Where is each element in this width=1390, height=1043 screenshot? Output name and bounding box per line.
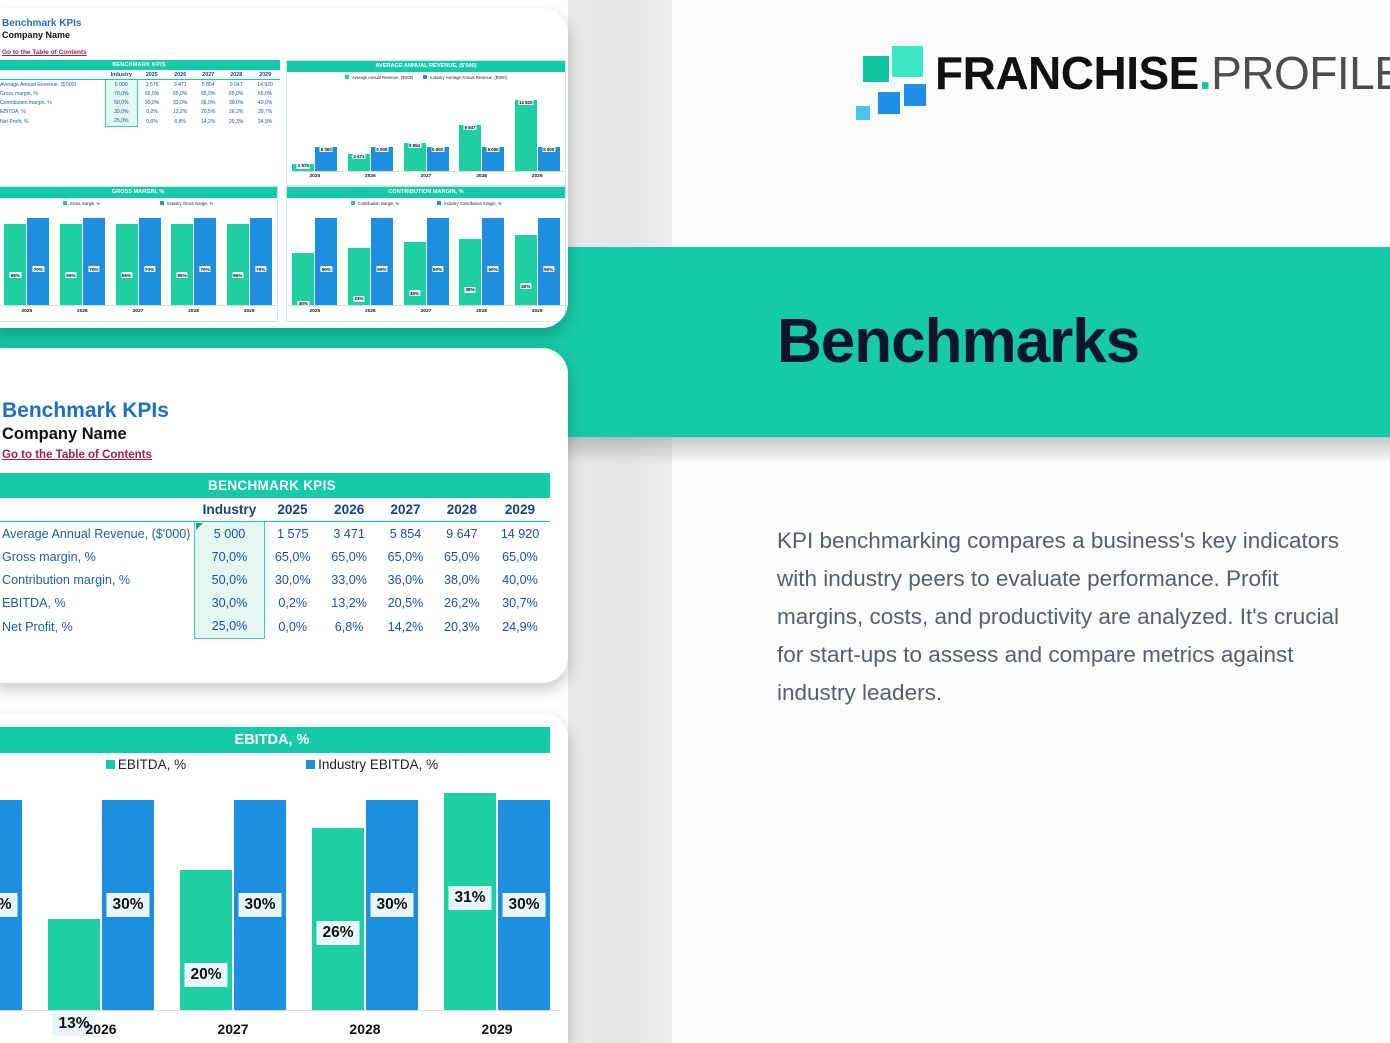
cell-2026: 33,0% [321,568,377,591]
legend-label: Gross margin, % [70,201,100,206]
cell-2028: 26,2% [222,108,250,117]
bar: 5 000 [538,147,560,171]
kpi-table-small: BENCHMARK KPIS Industry 2025 2026 2027 2… [0,60,280,127]
page-title: Benchmarks [777,307,1139,377]
cell-2028: 26,2% [434,592,490,615]
cell-2029: 24,9% [250,117,280,127]
cell-industry: 25,0% [195,615,264,639]
cell-2029: 40,0% [490,568,550,591]
bar-data-label: 70% [144,266,155,272]
bar: 36% [404,242,426,305]
col-industry: Industry [105,70,137,80]
ebitda-chart-card[interactable]: EBITDA, % EBITDA, % Industry EBITDA, % 3… [0,713,568,1043]
bar-group: 65%70% [60,208,105,305]
col-2029: 2029 [490,498,550,522]
logo-square-blue-right-icon [902,82,928,108]
sheet-header-small: Benchmark KPIs Company Name Go to the Ta… [2,18,87,59]
bar: 5 854 [404,143,426,171]
legend-swatch-icon [106,760,115,769]
x-axis-label: 2026 [343,309,399,314]
bar-data-label: 5 000 [542,146,555,152]
bar: 30% [292,253,314,305]
cell-2025: 30,0% [264,568,321,591]
x-axis-label: 2028 [166,309,222,314]
bar-data-label: 14 920 [518,99,533,105]
legend-swatch-icon [423,75,427,79]
chart-gross-margin[interactable]: GROSS MARGIN, %Gross margin, %Industry G… [0,186,278,322]
bar-group: 31%30% [444,785,550,1010]
table-row: EBITDA, % 30,0% 0,2% 13,2% 20,5% 26,2% 3… [0,108,280,117]
bar-data-label: 38% [464,287,475,293]
row-label: EBITDA, % [0,108,105,117]
cell-2029: 14 920 [250,80,280,90]
bar-data-label: 3 471 [352,153,365,159]
cell-2025: 65,0% [264,545,321,568]
bar: 50% [427,218,449,305]
bar: 5 000 [482,147,504,171]
row-label: Net Profit, % [0,117,105,127]
legend-swatch-icon [437,201,441,205]
bar-group: 65%70% [4,208,49,305]
cell-industry: 5 000 [105,80,137,90]
col-2028: 2028 [222,70,250,80]
legend-item: Contribution margin, % [351,201,400,206]
cell-industry: 5 000 [195,522,264,546]
table-row: Average Annual Revenue, ($'000) 5 000 1 … [0,80,280,90]
row-label: Average Annual Revenue, ($'000) [0,522,195,546]
cell-2027: 36,0% [377,568,433,591]
bar: 70% [139,218,161,305]
legend-item-ebitda: EBITDA, % [106,757,186,772]
bar: 50% [371,218,393,305]
bar-data-label: 65% [65,272,76,278]
bar: 20% [180,870,232,1010]
x-axis-label: 2025 [0,1021,22,1037]
bar-data-label: 5 000 [375,146,388,152]
cell-2029: 14 920 [490,522,550,546]
bar: 65% [116,224,138,305]
kpi-table-banner: BENCHMARK KPIS [0,60,280,70]
table-row: Average Annual Revenue, ($'000) 5 000 1 … [0,522,550,546]
bar-data-label: 1 575 [297,163,310,169]
bar-data-label: 70% [88,266,99,272]
x-axis-label: 2029 [509,174,565,179]
bar: 14 920 [515,100,537,171]
bar: 65% [227,224,249,305]
bar-data-label: 31% [448,886,491,910]
legend-label: Average Annual Revenue, ($'000) [352,75,413,80]
bar-group: 30%50% [292,208,337,305]
col-2025: 2025 [264,498,321,522]
legend-label: Contribution margin, % [358,201,400,206]
kpi-table-header-row: Industry 2025 2026 2027 2028 2029 [0,70,280,80]
x-axis-label: 2027 [398,174,454,179]
bar-data-label: 9 647 [464,124,477,130]
cell-2026: 65,0% [321,545,377,568]
legend-label: EBITDA, % [118,757,186,772]
cell-2027: 14,2% [377,615,433,639]
bar-group: 20%30% [180,785,286,1010]
bar: 65% [171,224,193,305]
bar: 30% [0,800,22,1010]
x-axis-label: 2029 [221,309,277,314]
table-row: Net Profit, % 25,0% 0,0% 6,8% 14,2% 20,3… [0,117,280,127]
bar-group: 3 4715 000 [348,82,393,171]
cell-2026: 3 471 [166,80,194,90]
bar-group: 26%30% [312,785,418,1010]
bar: 70% [83,218,105,305]
bar: 1 575 [292,164,314,171]
logo-squares-icon [851,44,917,102]
plot-area: 1 5755 00020253 4715 00020265 8545 00020… [287,82,565,171]
col-2025: 2025 [137,70,166,80]
bar: 26% [312,828,364,1010]
legend-item: Industry Gross margin, % [160,201,213,206]
logo-square-cyan-icon [854,104,872,122]
cell-industry: 30,0% [105,108,137,117]
bar-data-label: 5 000 [431,146,444,152]
cell-2028: 9 647 [222,80,250,90]
row-label: Gross margin, % [0,545,195,568]
table-row: Gross margin, % 70,0% 65,0% 65,0% 65,0% … [0,89,280,98]
legend-label: Industry Average Annual Revenue, ($'000) [430,75,507,80]
sheet-title: Benchmark KPIs [2,18,87,30]
cell-2026: 6,8% [321,615,377,639]
cell-2028: 9 647 [434,522,490,546]
cell-2026: 6,8% [166,117,194,127]
col-2027: 2027 [194,70,222,80]
bar: 50% [315,218,337,305]
bar-data-label: 30% [106,893,149,917]
col-2026: 2026 [166,70,194,80]
logo-word-franchise: FRANCHISE [935,47,1199,99]
x-axis-label: 2029 [444,1021,550,1037]
logo-square-blue-left-icon [876,90,902,116]
x-axis-line [287,171,565,172]
cell-2025: 0,2% [137,108,166,117]
bar-group: 33%50% [348,208,393,305]
logo-wordmark: FRANCHISE.PROFILES [935,50,1390,96]
x-axis-label: 2026 [55,309,111,314]
bar: 5 000 [315,147,337,171]
logo-word-profiles: PROFILES [1211,47,1390,99]
bar-group: 65%70% [227,208,272,305]
chart-title: GROSS MARGIN, % [0,187,277,198]
cell-2028: 20,3% [222,117,250,127]
cell-2029: 30,7% [250,108,280,117]
cell-2027: 36,0% [194,98,222,107]
bar: 38% [459,239,481,305]
bar: 70% [194,218,216,305]
bar-data-label: 5 000 [487,146,500,152]
chart-average-annual-revenue[interactable]: AVERAGE ANNUAL REVENUE, ($'000)Average A… [286,60,566,186]
bar-data-label: 65% [121,272,132,278]
cell-2026: 65,0% [166,89,194,98]
table-row: EBITDA, % 30,0% 0,2% 13,2% 20,5% 26,2% 3… [0,592,550,615]
cell-2028: 38,0% [222,98,250,107]
bar: 50% [538,218,560,305]
bar-data-label: 65% [10,272,21,278]
page-description: KPI benchmarking compares a business's k… [777,522,1357,712]
legend-item: Industry Average Annual Revenue, ($'000) [423,75,507,80]
bar: 70% [250,218,272,305]
bar-data-label: 30% [502,893,545,917]
cell-industry: 70,0% [195,545,264,568]
bar-data-label: 30% [238,893,281,917]
col-2028: 2028 [434,498,490,522]
x-axis-label: 2028 [312,1021,418,1037]
sheet-subtitle: Company Name [2,424,169,445]
x-axis-line [0,305,277,306]
bar-group: 65%70% [171,208,216,305]
bar: 9 647 [459,125,481,171]
cell-2029: 30,7% [490,592,550,615]
logo-dot: . [1199,47,1211,99]
cell-industry: 25,0% [105,117,137,127]
sheet-subtitle: Company Name [2,30,87,41]
bar: 3 471 [348,154,370,171]
row-label: Average Annual Revenue, ($'000) [0,80,105,90]
bar: 40% [515,235,537,305]
cell-2027: 20,5% [194,108,222,117]
cell-2027: 20,5% [377,592,433,615]
cell-2027: 14,2% [194,117,222,127]
bar-data-label: 36% [409,290,420,296]
col-2029: 2029 [250,70,280,80]
cell-industry: 50,0% [195,568,264,591]
legend-item: Average Annual Revenue, ($'000) [345,75,413,80]
legend-item: Gross margin, % [63,201,100,206]
sheet-title: Benchmark KPIs [2,398,169,424]
bar-data-label: 50% [376,266,387,272]
bar: 30% [102,800,154,1010]
chart-legend: Average Annual Revenue, ($'000)Industry … [287,72,565,82]
legend-item-industry-ebitda: Industry EBITDA, % [306,757,438,772]
bar: 50% [482,218,504,305]
legend-label: Industry Gross margin, % [167,201,213,206]
x-axis-label: 2028 [454,174,510,179]
cell-2025: 1 575 [137,80,166,90]
plot-area: 30%50%202533%50%202636%50%202738%50%2028… [287,208,565,305]
bar-data-label: 33% [353,296,364,302]
bar: 33% [348,248,370,305]
bar-data-label: 30% [370,893,413,917]
row-label: Contribution margin, % [0,98,105,107]
x-axis-label: 2026 [48,1021,154,1037]
bar: 5 000 [371,147,393,171]
bar-data-label: 5 854 [408,142,421,148]
bar-group: 65%70% [116,208,161,305]
bar-data-label: 50% [432,266,443,272]
cell-2025: 0,0% [264,615,321,639]
x-axis-label: 2027 [110,309,166,314]
cell-2028: 65,0% [222,89,250,98]
bar: 30% [366,800,418,1010]
col-2026: 2026 [321,498,377,522]
bar-data-label: 20% [184,963,227,987]
bar: 13% [48,919,100,1010]
bar-data-label: 50% [487,266,498,272]
bar-data-label: 30% [0,893,18,917]
table-of-contents-link[interactable]: Go to the Table of Contents [2,447,152,464]
cell-2027: 65,0% [194,89,222,98]
bar: 65% [60,224,82,305]
cell-2026: 33,0% [166,98,194,107]
x-axis-label: 2025 [287,309,343,314]
x-axis-label: 2025 [0,309,55,314]
chart-contribution-margin[interactable]: CONTRIBUTION MARGIN, %Contribution margi… [286,186,566,322]
row-label: EBITDA, % [0,592,195,615]
cell-2025: 0,0% [137,117,166,127]
bar: 65% [4,224,26,305]
dashboard-preview-card[interactable]: Benchmark KPIs Company Name Go to the Ta… [0,8,568,328]
bar: 30% [498,800,550,1010]
legend-swatch-icon [351,201,355,205]
x-axis-line [0,1010,560,1011]
x-axis-label: 2026 [343,174,399,179]
cell-2029: 40,0% [250,98,280,107]
legend-swatch-icon [63,201,67,205]
legend-label: Industry EBITDA, % [318,757,438,772]
legend-swatch-icon [306,760,315,769]
x-axis-label: 2025 [287,174,343,179]
chart-title: CONTRIBUTION MARGIN, % [287,187,565,198]
cell-industry: 30,0% [195,592,264,615]
bar-group: 5 8545 000 [404,82,449,171]
bar-group: 9 6475 000 [459,82,504,171]
legend-swatch-icon [160,201,164,205]
row-label: Contribution margin, % [0,568,195,591]
kpi-table-banner: BENCHMARK KPIS [0,473,550,498]
kpi-table-card[interactable]: Benchmark KPIs Company Name Go to the Ta… [0,348,568,683]
cell-2025: 1 575 [264,522,321,546]
table-row: Contribution margin, % 50,0% 30,0% 33,0%… [0,568,550,591]
cell-industry: 70,0% [105,89,137,98]
cell-corner-marker [196,523,203,530]
bar-data-label: 70% [255,266,266,272]
bar: 30% [234,800,286,1010]
bar: 70% [27,218,49,305]
brand-logo[interactable]: FRANCHISE.PROFILES [851,44,1390,102]
bar-data-label: 65% [176,272,187,278]
chart-legend: Gross margin, %Industry Gross margin, % [0,198,277,208]
x-axis-line [287,305,565,306]
bar-data-label: 26% [316,921,359,945]
cell-2029: 65,0% [250,89,280,98]
sheet-header-large: Benchmark KPIs Company Name Go to the Ta… [2,398,169,464]
cell-2027: 65,0% [377,545,433,568]
cell-2026: 13,2% [321,592,377,615]
bar-data-label: 50% [543,266,554,272]
bar: 31% [444,793,496,1010]
x-axis-label: 2029 [509,309,565,314]
bar-group: 13%30% [48,785,154,1010]
bar-data-label: 5 000 [320,146,333,152]
cell-2028: 20,3% [434,615,490,639]
bar-data-label: 70% [33,266,44,272]
cell-2028: 65,0% [434,545,490,568]
legend-swatch-icon [345,75,349,79]
cell-value: 5 000 [214,527,246,541]
bar-data-label: 50% [321,266,332,272]
background-gray-band [568,0,672,1043]
row-label: Gross margin, % [0,89,105,98]
cell-2026: 13,2% [166,108,194,117]
legend-label: Industry Contribution margin, % [444,201,501,206]
bar-group: 14 9205 000 [515,82,560,171]
bar-group: 1 5755 000 [292,82,337,171]
cell-2026: 3 471 [321,522,377,546]
ebitda-chart-legend: EBITDA, % Industry EBITDA, % [0,757,550,772]
legend-item: Industry Contribution margin, % [437,201,501,206]
bar-group: 38%50% [459,208,504,305]
cell-2028: 38,0% [434,568,490,591]
x-axis-label: 2028 [454,309,510,314]
cell-2029: 65,0% [490,545,550,568]
table-row: Contribution margin, % 50,0% 30,0% 33,0%… [0,98,280,107]
chart-legend: Contribution margin, %Industry Contribut… [287,198,565,208]
bar: 5 000 [427,147,449,171]
table-row: Gross margin, % 70,0% 65,0% 65,0% 65,0% … [0,545,550,568]
x-axis-label: 2027 [398,309,454,314]
cell-2029: 24,9% [490,615,550,639]
cell-2025: 30,0% [137,98,166,107]
bar-group: 36%50% [404,208,449,305]
cell-industry: 50,0% [105,98,137,107]
col-2027: 2027 [377,498,433,522]
row-label: Net Profit, % [0,615,195,639]
cell-2025: 0,2% [264,592,321,615]
cell-2027: 5 854 [194,80,222,90]
kpi-table-large: BENCHMARK KPIS Industry 2025 2026 2027 2… [0,473,550,639]
cell-2025: 65,0% [137,89,166,98]
bar-data-label: 70% [199,266,210,272]
table-row: Net Profit, % 25,0% 0,0% 6,8% 14,2% 20,3… [0,615,550,639]
table-of-contents-link[interactable]: Go to the Table of Contents [2,48,87,57]
x-axis-label: 2027 [180,1021,286,1037]
bar-data-label: 40% [520,283,531,289]
logo-square-teal-dark-icon [861,54,891,84]
plot-area: 65%70%202565%70%202665%70%202765%70%2028… [0,208,277,305]
kpi-table-header-row: Industry 2025 2026 2027 2028 2029 [0,498,550,522]
chart-title: AVERAGE ANNUAL REVENUE, ($'000) [287,61,565,72]
bar-group: 30% [0,785,22,1010]
cell-2027: 5 854 [377,522,433,546]
ebitda-plot-area: 30%202513%30%202620%30%202726%30%202831%… [0,785,560,1010]
logo-square-teal-light-icon [890,44,925,79]
bar-data-label: 65% [232,272,243,278]
ebitda-chart-title: EBITDA, % [0,727,550,753]
bar-group: 40%50% [515,208,560,305]
col-industry: Industry [195,498,264,522]
teal-band-shadow [568,437,1390,463]
